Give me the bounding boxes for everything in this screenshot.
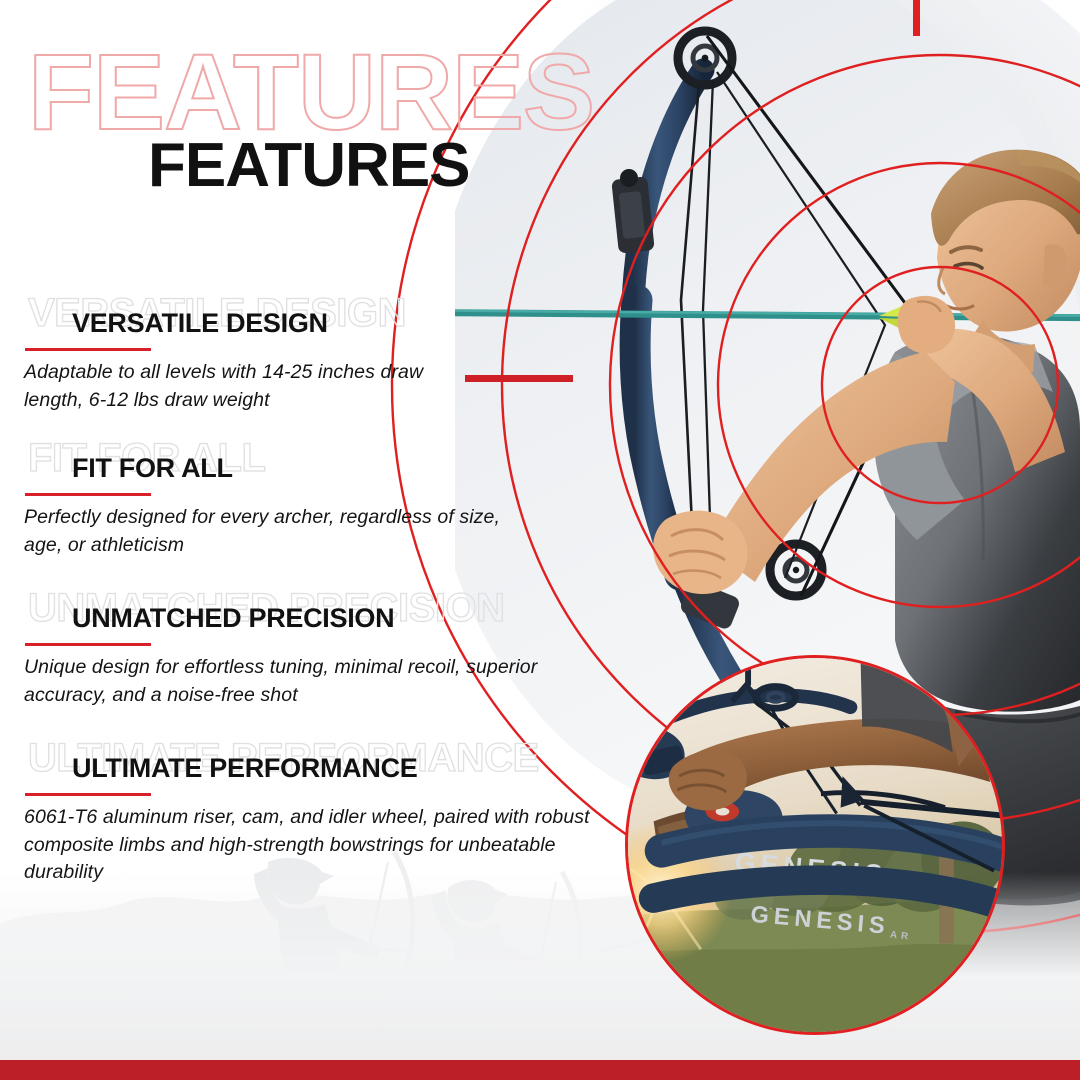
- feature-underline: [25, 793, 151, 796]
- page-title-ghost: FEATURES: [28, 38, 594, 146]
- feature-heading: FIT FOR ALL: [72, 455, 233, 482]
- feature-underline: [25, 348, 151, 351]
- feature-body-text: Unique design for effortless tuning, min…: [24, 654, 554, 709]
- infographic-canvas: FEATURES FEATURES VERSATILE DESIGN VERSA…: [0, 0, 1080, 1080]
- svg-text:AR: AR: [889, 930, 912, 943]
- feature-heading: ULTIMATE PERFORMANCE: [72, 755, 417, 782]
- feature-body-text: 6061-T6 aluminum riser, cam, and idler w…: [24, 804, 609, 887]
- page-title: FEATURES: [148, 135, 470, 197]
- inset-photo-bow-limb: GENESIS ARCHERY GENESIS AR: [625, 655, 1005, 1035]
- feature-underline: [25, 643, 151, 646]
- feature-heading: VERSATILE DESIGN: [72, 310, 328, 337]
- bottom-accent-bar: [0, 1060, 1080, 1080]
- tick-mark-vertical: [913, 0, 920, 36]
- feature-body-text: Adaptable to all levels with 14-25 inche…: [24, 359, 424, 414]
- tick-mark-horizontal: [465, 375, 573, 382]
- page-title-group: FEATURES FEATURES: [0, 38, 680, 188]
- feature-heading: UNMATCHED PRECISION: [72, 605, 394, 632]
- feature-underline: [25, 493, 151, 496]
- feature-body-text: Perfectly designed for every archer, reg…: [24, 504, 524, 559]
